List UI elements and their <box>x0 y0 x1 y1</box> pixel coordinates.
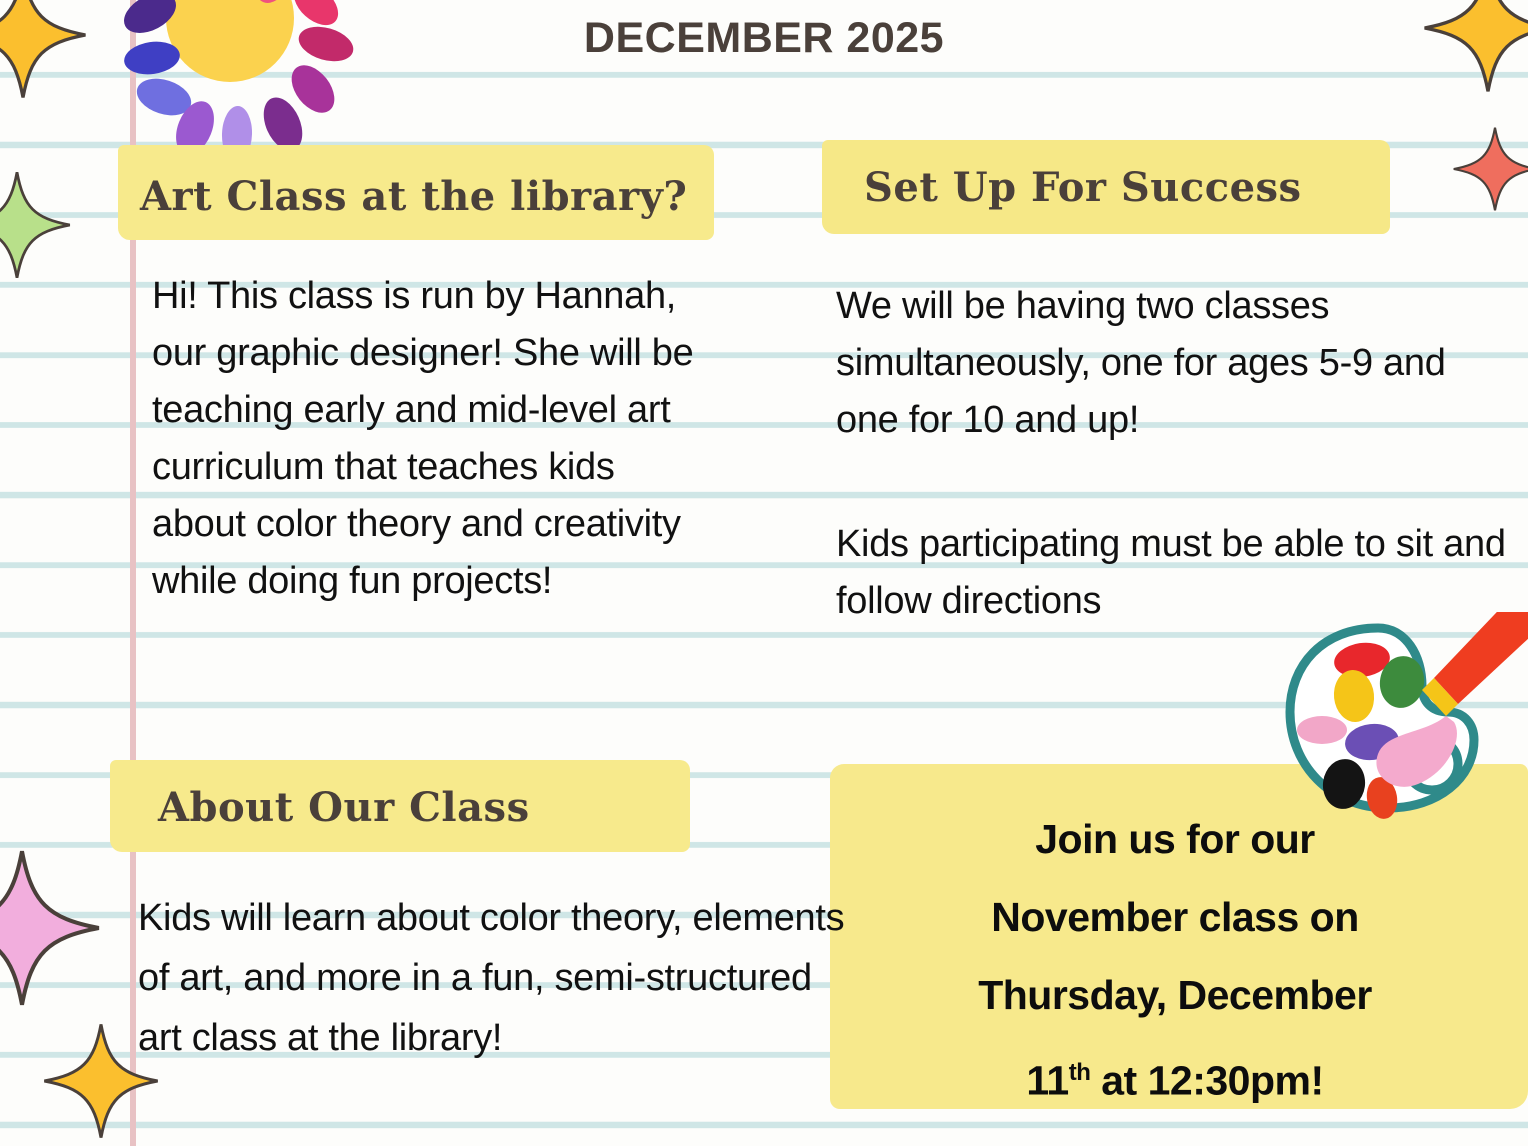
heading-art-class-wrap: Art Class at the library? <box>118 145 687 220</box>
paragraph-two-classes: We will be having two classes simultaneo… <box>836 278 1496 449</box>
page-title: DECEMBER 2025 <box>0 14 1528 63</box>
poster-canvas: DECEMBER 2025 Art Class at the library? … <box>0 0 1528 1146</box>
cta-time: at 12:30pm! <box>1090 1058 1323 1104</box>
sparkle-pink-bottom-left <box>0 848 102 1008</box>
heading-about-wrap: About Our Class <box>110 760 530 831</box>
sparkle-green-left <box>0 170 72 280</box>
cta-line-4: 11th at 12:30pm! <box>845 1034 1505 1120</box>
heading-set-up-wrap: Set Up For Success <box>822 140 1302 211</box>
cta-line-1: Join us for our <box>845 800 1505 878</box>
paragraph-art-class: Hi! This class is run by Hannah, our gra… <box>152 268 712 610</box>
paint-palette-icon <box>1282 612 1528 832</box>
heading-set-up-for-success: Set Up For Success <box>822 140 1302 211</box>
paragraph-about-our-class: Kids will learn about color theory, elem… <box>138 888 854 1068</box>
heading-art-class: Art Class at the library? <box>118 145 687 220</box>
sparkle-coral-top-right <box>1452 126 1528 212</box>
cta-line-2: November class on <box>845 878 1505 956</box>
cta-text-block: Join us for our November class on Thursd… <box>845 800 1505 1120</box>
cta-day-suffix: th <box>1069 1059 1091 1086</box>
heading-about-our-class: About Our Class <box>110 760 530 831</box>
cta-line-3: Thursday, December <box>845 956 1505 1034</box>
cta-day-number: 11 <box>1026 1058 1068 1104</box>
